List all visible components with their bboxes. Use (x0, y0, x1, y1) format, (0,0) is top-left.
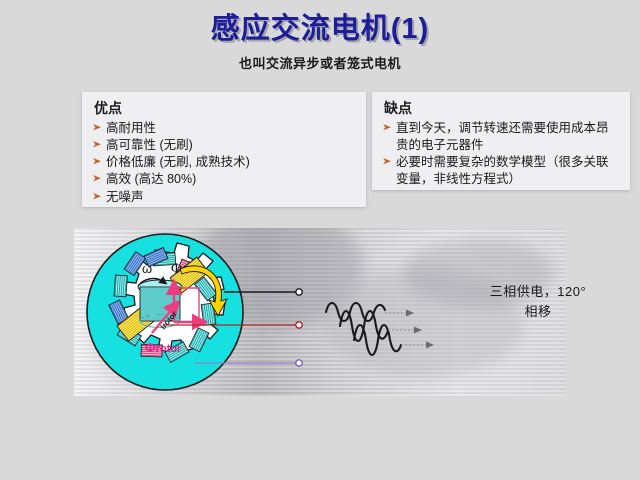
list-item-label: 直到今天，调节转速还需要使用成本昂贵的电子元器件 (396, 121, 609, 152)
arrow-bullet-icon (382, 122, 393, 133)
list-item-label: 高耐用性 (106, 121, 156, 135)
three-phase-waveform-diagram (322, 292, 442, 374)
arrow-bullet-icon (92, 191, 103, 202)
disadvantages-panel: 缺点 直到今天，调节转速还需要使用成本昂贵的电子元器件 必要时需要复杂的数学模型… (372, 92, 630, 190)
arrow-bullet-icon (92, 173, 103, 184)
list-item-label: 无噪声 (106, 190, 144, 204)
page-title: 感应交流电机(1) (0, 14, 640, 44)
list-item-label: 高效 (高达 80%) (106, 172, 196, 186)
list-item-label: 高可靠性 (无刷) (106, 138, 193, 152)
three-phase-supply-caption: 三相供电，120° 相移 (452, 282, 624, 322)
arrow-bullet-icon (92, 122, 103, 133)
rotor-coil-cyan (138, 280, 182, 328)
rotor-flux-label: Φrotor (145, 340, 182, 355)
supply-caption-line-1: 三相供电，120° (452, 282, 624, 302)
list-item-label: 价格低廉 (无刷, 成熟技术) (106, 155, 250, 169)
list-item: 无噪声 (92, 189, 356, 206)
supply-caption-line-2: 相移 (452, 302, 624, 322)
flux-label: Φ (171, 261, 182, 277)
list-item: 价格低廉 (无刷, 成熟技术) (92, 154, 356, 171)
advantages-list: 高耐用性 高可靠性 (无刷) 价格低廉 (无刷, 成熟技术) 高效 (高达 80… (92, 120, 356, 206)
advantages-panel: 优点 高耐用性 高可靠性 (无刷) 价格低廉 (无刷, 成熟技术) 高效 (高达… (82, 92, 366, 207)
arrow-bullet-icon (382, 156, 393, 167)
sine-wave-phase-1 (326, 303, 385, 321)
induction-motor-diagram: Irotor ω Φ Φrotor (78, 230, 308, 395)
disadvantages-list: 直到今天，调节转速还需要使用成本昂贵的电子元器件 必要时需要复杂的数学模型（很多… (382, 120, 620, 189)
slide-header: 感应交流电机(1) 也叫交流异步或者笼式电机 (0, 14, 640, 72)
arrow-bullet-icon (92, 139, 103, 150)
omega-label: ω (142, 261, 152, 276)
list-item: 高耐用性 (92, 120, 356, 137)
advantages-heading: 优点 (94, 100, 356, 118)
arrow-bullet-icon (92, 156, 103, 167)
list-item: 高效 (高达 80%) (92, 171, 356, 188)
list-item: 高可靠性 (无刷) (92, 137, 356, 154)
page-subtitle: 也叫交流异步或者笼式电机 (0, 53, 640, 72)
list-item: 直到今天，调节转速还需要使用成本昂贵的电子元器件 (382, 120, 620, 155)
list-item-label: 必要时需要复杂的数学模型（很多关联变量，非线性方程式） (396, 155, 609, 186)
list-item: 必要时需要复杂的数学模型（很多关联变量，非线性方程式） (382, 154, 620, 189)
disadvantages-heading: 缺点 (384, 100, 620, 118)
